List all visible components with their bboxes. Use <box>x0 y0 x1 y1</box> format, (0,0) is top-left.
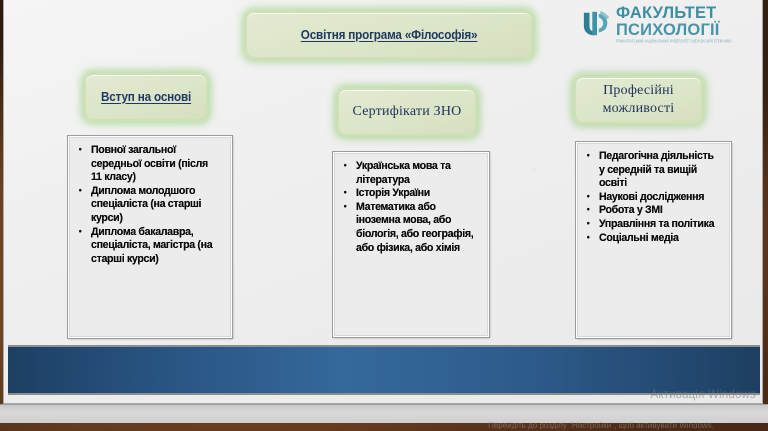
list-item: Наукові дослідження <box>599 191 717 205</box>
list-item: Управління та політика <box>599 218 717 232</box>
slide-footer-band <box>8 345 760 395</box>
logo-wordmark: ФАКУЛЬТЕТ ПСИХОЛОГІЇ ПРИКАРПАТСЬКИЙ НАЦІ… <box>616 5 732 44</box>
list-panel-certificates: Українська мова та література Історія Ук… <box>333 152 489 337</box>
list-item: Диплома молодшого спеціаліста (на старші… <box>91 185 217 226</box>
logo-subtitle: ПРИКАРПАТСЬКИЙ НАЦІОНАЛЬНИЙ УНІВЕРСИТЕТ … <box>616 41 732 45</box>
list-item: Математика або іноземна мова, або біолог… <box>356 201 474 255</box>
list-item: Робота у ЗМІ <box>599 204 717 218</box>
heading-admission-label: Вступ на основі <box>101 89 191 105</box>
heading-careers-label: Професійні можливості <box>576 82 701 118</box>
list-panel-admission: Повної загальної середньої освіти (після… <box>68 136 232 338</box>
list-item: Диплома бакалавра, спеціаліста, магістра… <box>91 226 217 267</box>
heading-box-admission: Вступ на основі <box>84 73 208 121</box>
presentation-slide: ФАКУЛЬТЕТ ПСИХОЛОГІЇ ПРИКАРПАТСЬКИЙ НАЦІ… <box>3 0 763 404</box>
logo-line-2: ПСИХОЛОГІЇ <box>616 22 732 39</box>
list-item: Соціальні медіа <box>599 232 717 246</box>
window-bottom-strip <box>0 404 768 423</box>
list-item: Українська мова та література <box>356 160 474 187</box>
heading-certificates-label: Сертифікати ЗНО <box>353 103 462 121</box>
list-panel-careers: Педагогічна діяльність у середній та вищ… <box>576 142 731 338</box>
psi-letter-logo-icon <box>582 9 612 39</box>
faculty-logo: ФАКУЛЬТЕТ ПСИХОЛОГІЇ ПРИКАРПАТСЬКИЙ НАЦІ… <box>582 2 754 46</box>
page-title: Освітня програма «Філософія» <box>301 27 478 43</box>
list-item: Історія України <box>356 187 474 201</box>
bullet-list-certificates: Українська мова та література Історія Ук… <box>338 160 482 255</box>
logo-line-1: ФАКУЛЬТЕТ <box>616 5 732 22</box>
list-item: Повної загальної середньої освіти (після… <box>91 144 217 185</box>
list-item: Педагогічна діяльність у середній та вищ… <box>599 150 717 191</box>
bullet-list-careers: Педагогічна діяльність у середній та вищ… <box>581 150 724 245</box>
heading-box-certificates: Сертифікати ЗНО <box>337 88 477 136</box>
bullet-list-admission: Повної загальної середньої освіти (після… <box>73 144 225 266</box>
heading-box-careers: Професійні можливості <box>574 76 703 124</box>
slide-title-box: Освітня програма «Філософія» <box>245 11 533 59</box>
